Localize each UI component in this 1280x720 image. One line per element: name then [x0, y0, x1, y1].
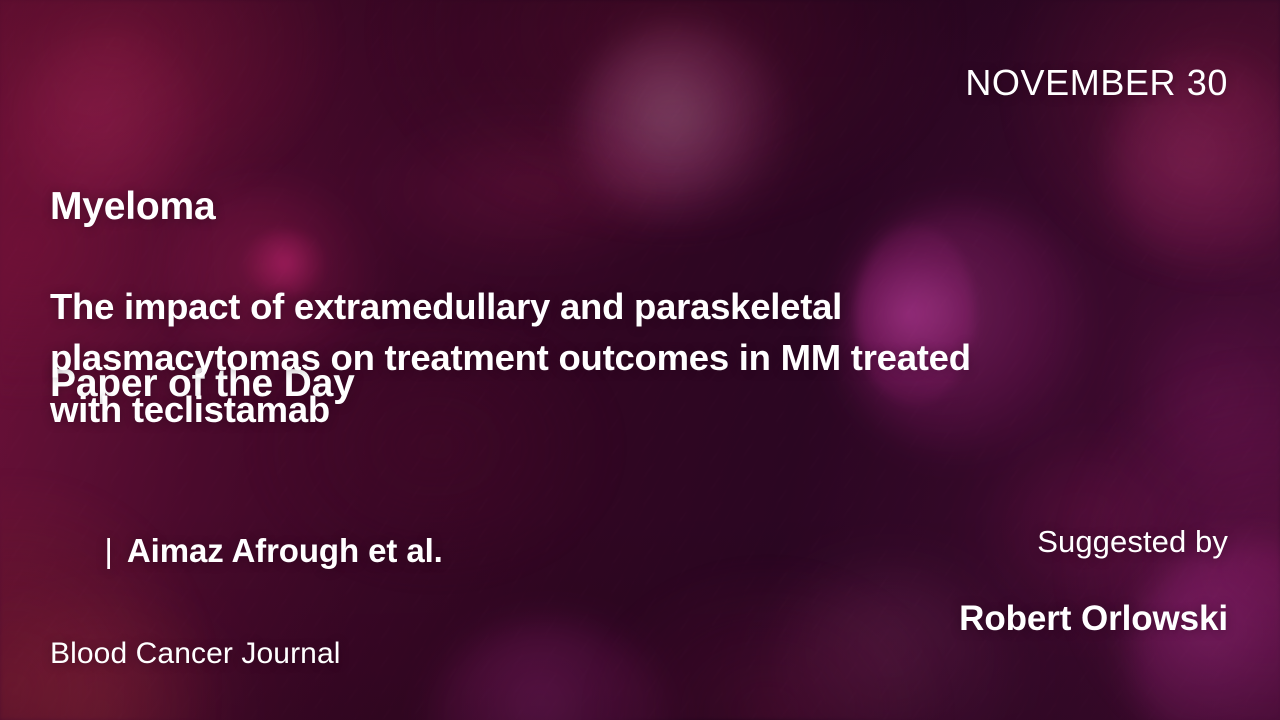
- authors-line: |Aimaz Afrough et al.: [50, 494, 443, 608]
- series-title-line1: Myeloma: [50, 177, 355, 236]
- suggested-by-name: Robert Orlowski: [959, 597, 1228, 640]
- paper-of-the-day-slide: Myeloma Paper of the Day NOVEMBER 30 The…: [0, 0, 1280, 720]
- suggested-by-block: Suggested by Robert Orlowski: [959, 487, 1228, 676]
- slide-content: Myeloma Paper of the Day NOVEMBER 30 The…: [0, 0, 1280, 720]
- suggested-by-label: Suggested by: [959, 523, 1228, 561]
- authors-names: Aimaz Afrough et al.: [127, 532, 443, 569]
- date-label: NOVEMBER 30: [965, 62, 1228, 104]
- authors-separator: |: [104, 532, 112, 569]
- journal-name: Blood Cancer Journal: [50, 637, 341, 671]
- paper-title: The impact of extramedullary and paraske…: [50, 281, 990, 435]
